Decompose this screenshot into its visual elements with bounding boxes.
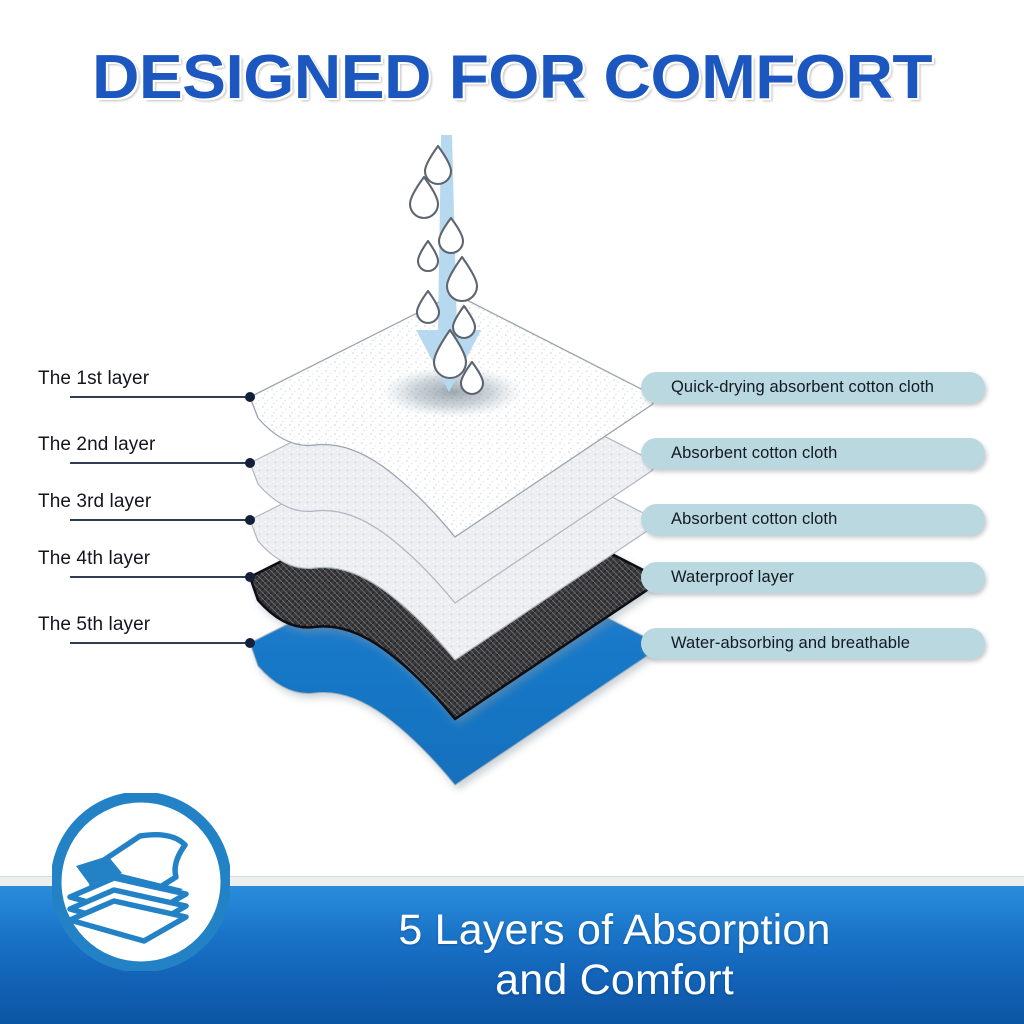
- layer-1-sheet: [250, 294, 653, 537]
- stacked-sheets-badge: [52, 793, 230, 971]
- layer-callout-3: Absorbent cotton cloth: [641, 504, 985, 535]
- leader-dots: [245, 392, 255, 648]
- layer-2-sheet: [250, 360, 653, 603]
- footer-headline-line1: 5 Layers of Absorption: [398, 905, 830, 955]
- layer-label-5: The 5th layer: [38, 614, 150, 636]
- layer-label-3: The 3rd layer: [38, 491, 151, 513]
- layer-callout-4: Waterproof layer: [641, 562, 985, 593]
- footer-headline: 5 Layers of Absorption and Comfort: [205, 886, 1024, 1024]
- layer-label-2: The 2nd layer: [38, 434, 155, 456]
- layer-callout-3-text: Absorbent cotton cloth: [671, 510, 837, 529]
- layer-4-sheet: [250, 474, 653, 719]
- layer-callout-5-text: Water-absorbing and breathable: [671, 634, 910, 653]
- layer-label-1: The 1st layer: [38, 368, 149, 390]
- layer-5-sheet: [250, 540, 653, 785]
- layer-callout-1-text: Quick-drying absorbent cotton cloth: [671, 378, 934, 397]
- layer-callout-4-text: Waterproof layer: [671, 568, 794, 587]
- down-arrow-icon: [416, 135, 481, 392]
- water-droplet-icon: [410, 146, 483, 394]
- page-title: DESIGNED FOR COMFORT: [0, 42, 1024, 113]
- infographic-page: DESIGNED FOR COMFORT: [0, 0, 1024, 1024]
- layer-callout-2: Absorbent cotton cloth: [641, 438, 985, 469]
- layer-callout-5: Water-absorbing and breathable: [641, 628, 985, 659]
- footer-headline-line2: and Comfort: [495, 955, 734, 1005]
- layer-callout-1: Quick-drying absorbent cotton cloth: [641, 372, 985, 403]
- layer-callout-2-text: Absorbent cotton cloth: [671, 444, 837, 463]
- wet-spot: [380, 366, 524, 418]
- layer-3-sheet: [250, 417, 653, 660]
- layer-label-4: The 4th layer: [38, 548, 150, 570]
